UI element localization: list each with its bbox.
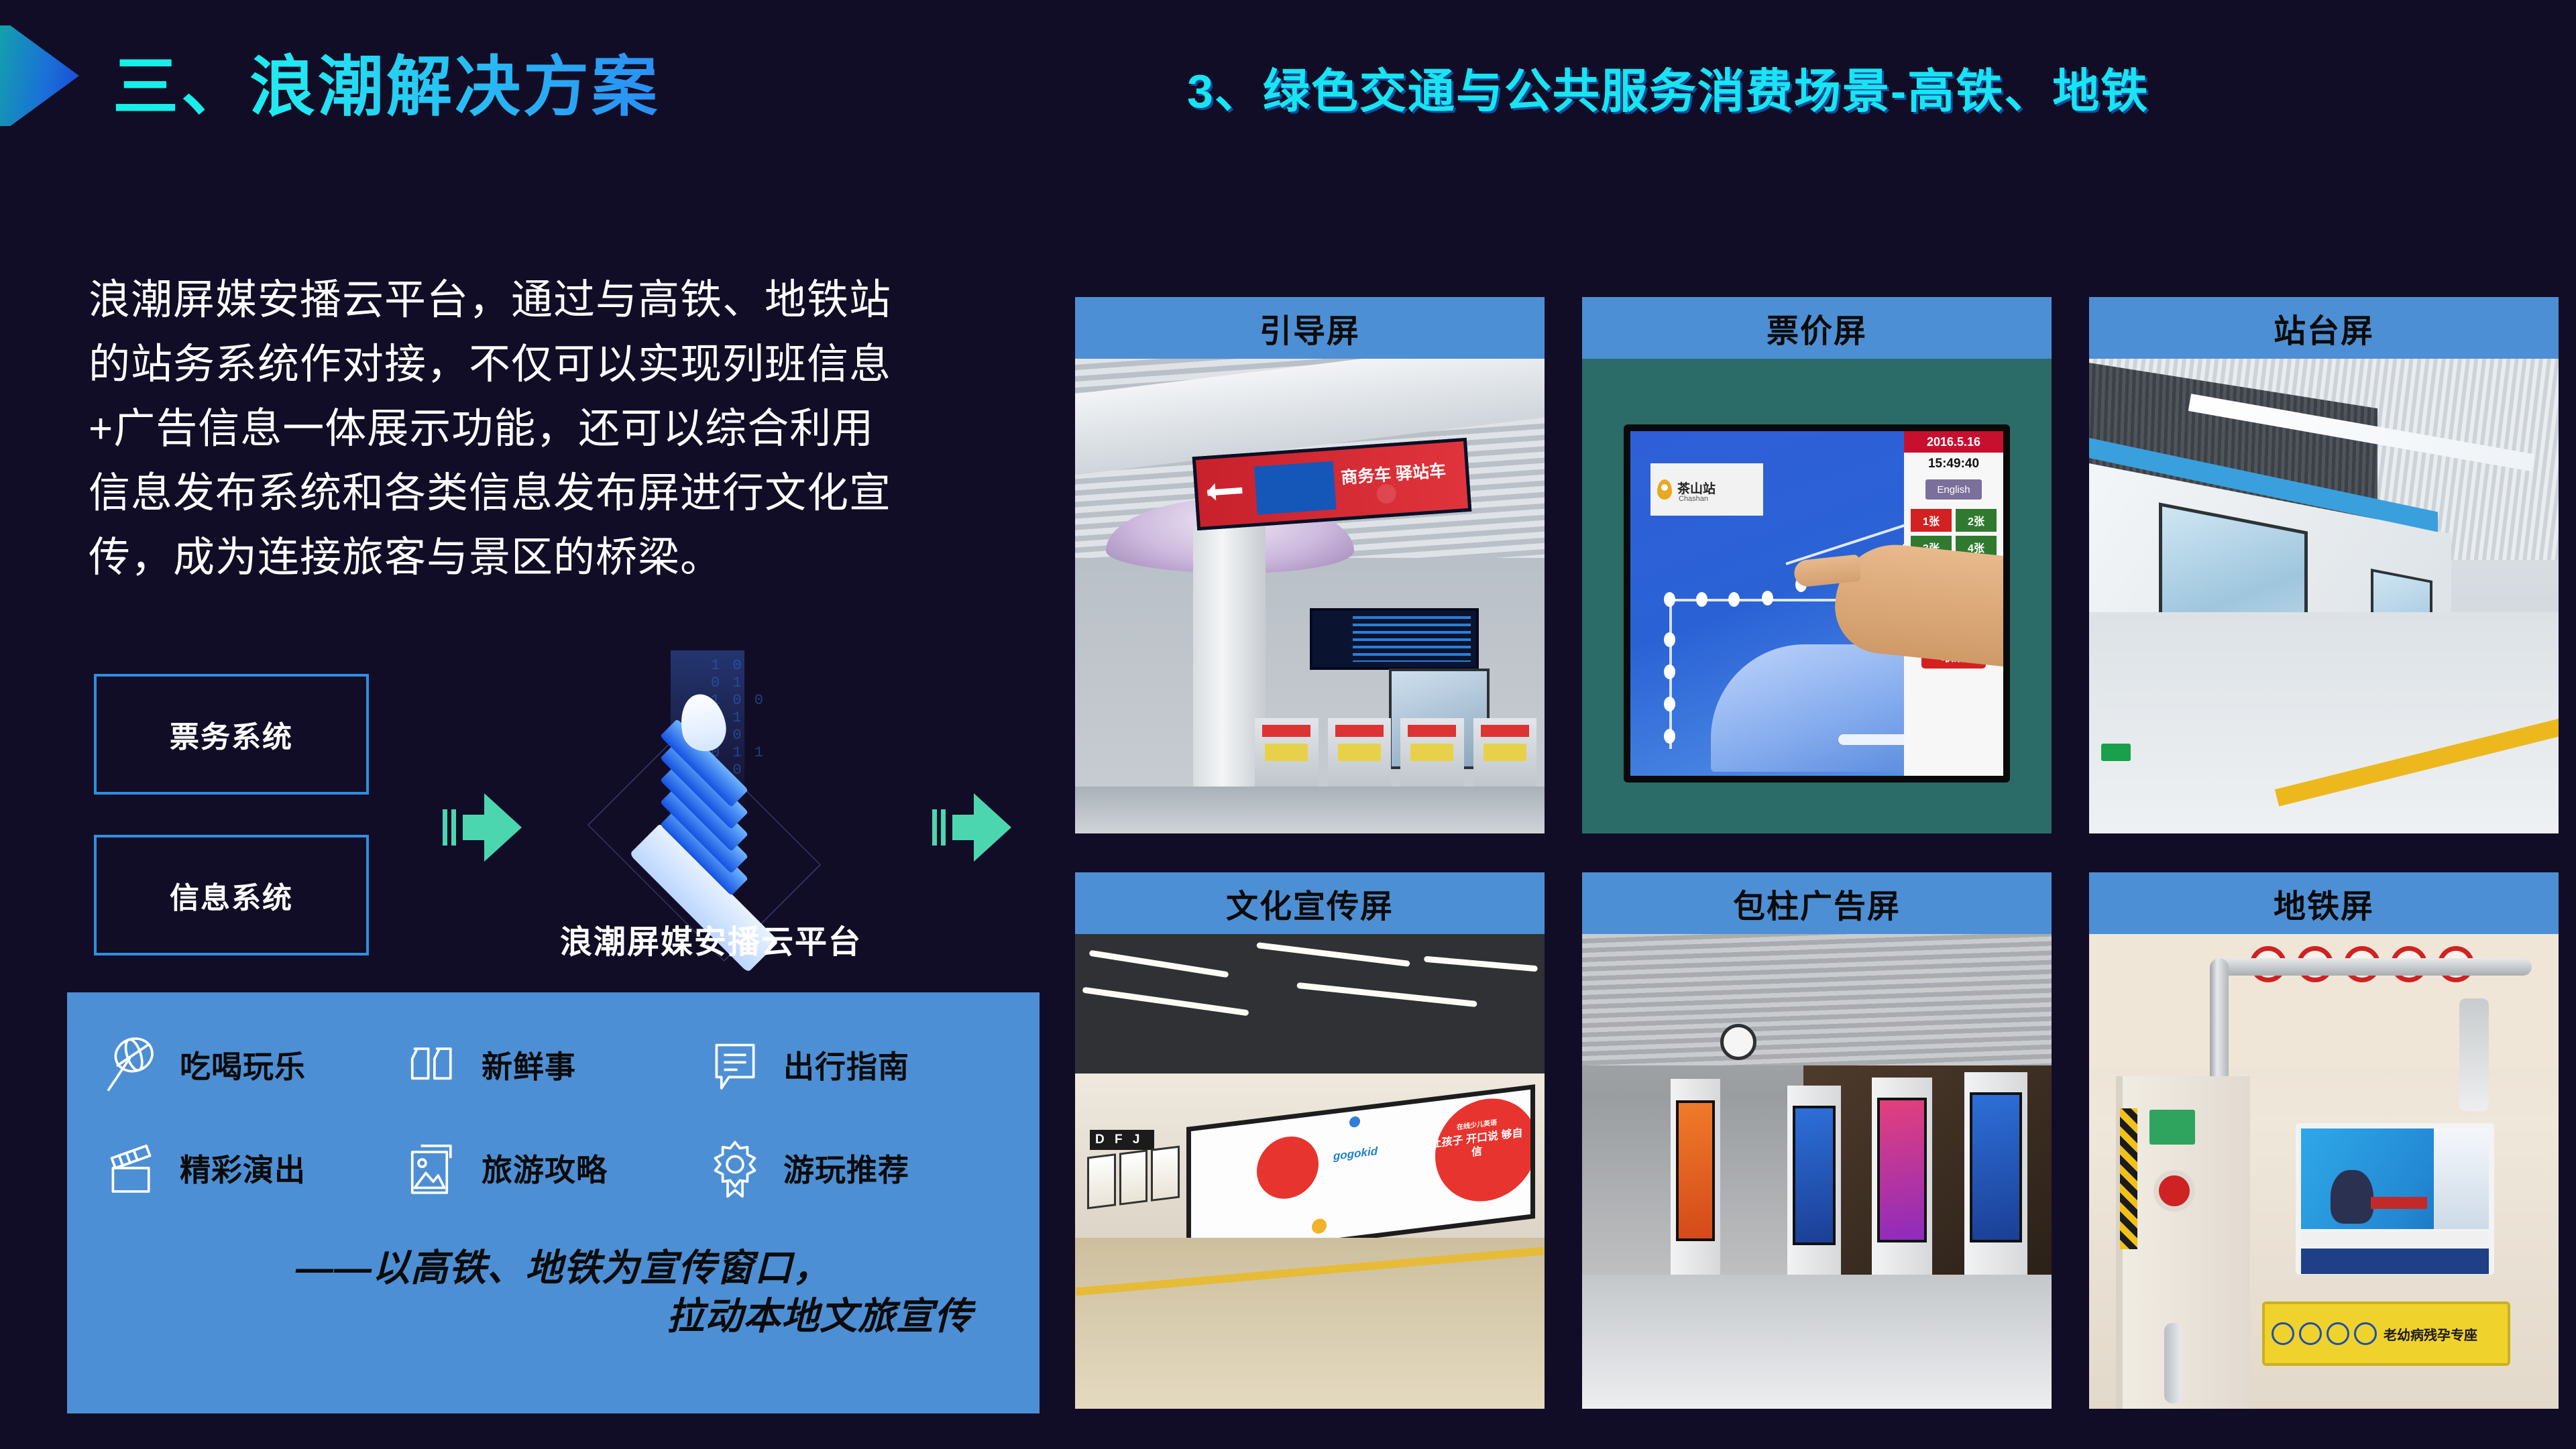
hand-strap	[2459, 998, 2489, 1111]
courtesy-seat-text: 老幼病残孕专座	[2384, 1324, 2477, 1344]
location-pin-icon	[1657, 479, 1672, 500]
emergency-button[interactable]	[2153, 1170, 2195, 1212]
in-car-display	[2296, 1123, 2494, 1275]
station-clock-icon	[1720, 1024, 1756, 1060]
door-handle[interactable]	[2164, 1323, 2182, 1403]
feature-item-food-fun[interactable]: 吃喝玩乐	[101, 1034, 402, 1096]
feature-grid: 吃喝玩乐 新鲜事	[101, 1034, 1006, 1199]
qty-button-2[interactable]: 2张	[1956, 509, 1997, 532]
ad-line-2: 开口说 够自信	[1466, 1127, 1522, 1158]
slide-root: 三、浪潮解决方案 3、绿色交通与公共服务消费场景-高铁、地铁 浪潮屏媒安播云平台…	[0, 0, 2576, 1449]
feature-label: 吃喝玩乐	[180, 1043, 306, 1087]
card-title: 站台屏	[2089, 297, 2559, 359]
card-title: 文化宣传屏	[1075, 872, 1545, 934]
page-title: 三、浪潮解决方案	[113, 34, 660, 129]
ad-line-1: 让孩子	[1431, 1135, 1463, 1150]
gallery-card-metro-screen[interactable]: 地铁屏 老幼病残孕专座	[2089, 872, 2559, 1409]
body-paragraph: 浪潮屏媒安播云平台，通过与高铁、地铁站 的站务系统作对接，不仅可以实现列班信息 …	[89, 268, 1061, 590]
photo-platform-screen	[2089, 359, 2559, 833]
gallery-card-fare-screen[interactable]: 票价屏 茶山站 Chashan	[1582, 297, 2052, 833]
page-subtitle: 3、绿色交通与公共服务消费场景-高铁、地铁	[1187, 54, 2149, 121]
chevron-accent-icon	[0, 25, 79, 126]
feature-item-tour-tips[interactable]: 旅游攻略	[402, 1137, 704, 1199]
ad-brand: gogokid	[1333, 1145, 1378, 1163]
photo-fare-screen: 茶山站 Chashan	[1582, 359, 2052, 833]
english-button[interactable]: English	[1925, 479, 1982, 500]
card-title: 引导屏	[1075, 297, 1545, 359]
photo-gallery-icon	[402, 1137, 464, 1199]
photo-pillar-ad-screen	[1582, 934, 2052, 1409]
body-line: 的站务系统作对接，不仅可以实现列班信息	[89, 333, 1061, 397]
body-line: 信息发布系统和各类信息发布屏进行文化宣	[89, 461, 1061, 526]
screen-gallery-grid: 引导屏 商务车 驿站车 票价屏	[1075, 297, 2559, 1409]
feature-label: 新鲜事	[482, 1043, 576, 1087]
gallery-card-culture-screen[interactable]: 文化宣传屏 gogokid 在线少儿英语 让孩子	[1075, 872, 1545, 1409]
feature-label: 精彩演出	[180, 1146, 306, 1190]
system-box-information: 信息系统	[94, 835, 369, 955]
feature-label: 出行指南	[783, 1043, 909, 1087]
tagline-line-1: ——以高铁、地铁为宣传窗口，	[40, 1244, 1046, 1292]
card-title: 包柱广告屏	[1582, 872, 2052, 934]
gallery-card-guidance-screen[interactable]: 引导屏 商务车 驿站车	[1075, 297, 1545, 833]
card-title: 票价屏	[1582, 297, 2052, 359]
speech-bubble-icon	[704, 1034, 766, 1096]
qty-button-1[interactable]: 1张	[1911, 509, 1952, 532]
feature-item-news[interactable]: 新鲜事	[402, 1034, 704, 1096]
card-title: 地铁屏	[2089, 872, 2559, 934]
feature-item-recommendation[interactable]: 游玩推荐	[704, 1137, 1006, 1199]
safety-label	[2149, 1110, 2195, 1145]
system-box-ticketing: 票务系统	[94, 674, 369, 795]
tagline: ——以高铁、地铁为宣传窗口， 拉动本地文旅宣传	[40, 1244, 1046, 1340]
arrow-right-icon	[443, 788, 522, 867]
award-badge-icon	[704, 1137, 766, 1199]
feature-item-performance[interactable]: 精彩演出	[101, 1137, 402, 1199]
quote-marks-icon	[402, 1034, 464, 1096]
feature-panel: 吃喝玩乐 新鲜事	[67, 992, 1040, 1413]
photo-culture-screen: gogokid 在线少儿英语 让孩子 开口说 够自信	[1075, 934, 1545, 1409]
parasol-icon	[101, 1034, 162, 1096]
arrow-right-icon	[932, 788, 1011, 867]
feature-item-travel-guide[interactable]: 出行指南	[704, 1034, 1006, 1096]
body-line: 浪潮屏媒安播云平台，通过与高铁、地铁站	[89, 268, 1061, 333]
clapperboard-icon	[101, 1137, 162, 1199]
gallery-card-platform-screen[interactable]: 站台屏	[2089, 297, 2559, 833]
photo-guidance-screen: 商务车 驿站车	[1075, 359, 1545, 833]
station-name-en: Chashan	[1679, 496, 1708, 504]
tagline-line-2: 拉动本地文旅宣传	[40, 1292, 1046, 1340]
exit-sign	[1090, 1130, 1154, 1150]
station-name-cn: 茶山站	[1677, 483, 1716, 496]
date-display: 2016.5.16	[1904, 431, 2003, 453]
feature-label: 旅游攻略	[482, 1146, 608, 1190]
platform-label: 浪潮屏媒安播云平台	[523, 915, 899, 962]
station-badge: 茶山站 Chashan	[1650, 463, 1763, 516]
time-display: 15:49:40	[1904, 453, 2003, 475]
body-line: +广告信息一体展示功能，还可以综合利用	[89, 397, 1061, 461]
photo-metro-screen: 老幼病残孕专座	[2089, 934, 2559, 1409]
gallery-card-pillar-ad-screen[interactable]: 包柱广告屏	[1582, 872, 2052, 1409]
feature-label: 游玩推荐	[783, 1146, 909, 1190]
body-line: 传，成为连接旅客与景区的桥梁。	[89, 526, 1061, 590]
courtesy-seat-sign: 老幼病残孕专座	[2262, 1301, 2510, 1366]
